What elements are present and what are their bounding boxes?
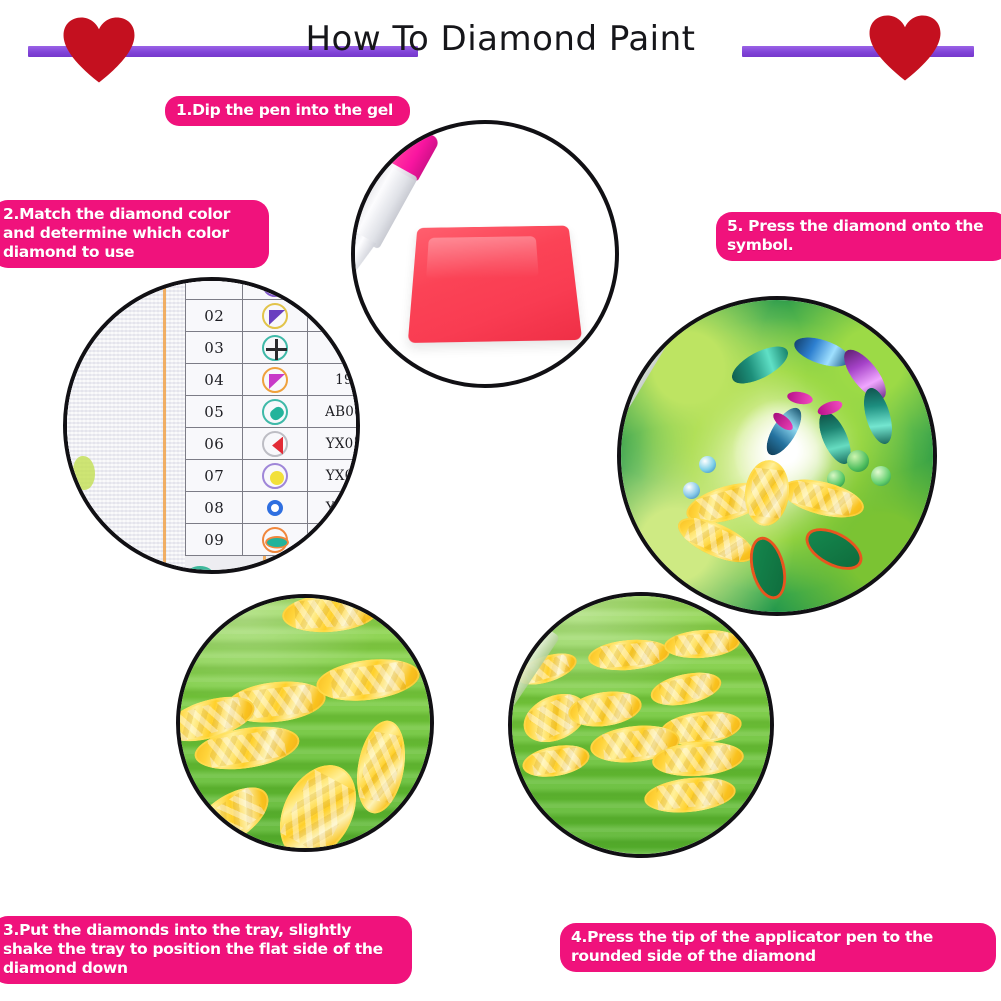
pen-dipping-into-pink-gel-pad bbox=[355, 124, 615, 384]
step-2-photo: 0280209303 1110419505AB00406YX05807YX083… bbox=[63, 277, 360, 574]
table-row: 03 111 bbox=[186, 332, 361, 364]
step-1-label: 1.Dip the pen into the gel bbox=[165, 96, 410, 126]
step-1-photo bbox=[351, 120, 619, 388]
canvas-paint-blob bbox=[187, 566, 213, 574]
chart-code: YX058 bbox=[307, 428, 360, 460]
gem-round bbox=[871, 466, 891, 486]
chart-code: 111 bbox=[307, 332, 360, 364]
chart-number: 07 bbox=[186, 460, 243, 492]
chart-code: YX125 bbox=[307, 524, 360, 556]
pink-gel-pad bbox=[408, 226, 582, 343]
blue-dots-icon bbox=[262, 277, 288, 297]
canvas-paint-blob bbox=[73, 456, 95, 490]
step-3-photo bbox=[176, 594, 434, 852]
page-title: How To Diamond Paint bbox=[0, 19, 1001, 59]
yellow-dot-icon bbox=[262, 463, 288, 489]
step-5-photo bbox=[617, 296, 937, 616]
chart-number: 09 bbox=[186, 524, 243, 556]
chart-number: 02 bbox=[186, 300, 243, 332]
table-row: 028 bbox=[186, 277, 361, 300]
gem-round bbox=[699, 456, 716, 473]
teal-leaf-icon bbox=[262, 527, 288, 553]
chart-symbol bbox=[243, 300, 307, 332]
chart-number: 06 bbox=[186, 428, 243, 460]
gem-round bbox=[683, 482, 700, 499]
chart-number bbox=[186, 277, 243, 300]
canvas-paint-blob bbox=[85, 521, 105, 539]
teal-plus-icon bbox=[262, 335, 288, 361]
chart-code: 028 bbox=[307, 277, 360, 300]
chart-number: 08 bbox=[186, 492, 243, 524]
chart-symbol bbox=[243, 364, 307, 396]
gem-round bbox=[847, 450, 869, 472]
teal-bar-icon bbox=[262, 399, 288, 425]
blue-ring-icon bbox=[262, 495, 288, 521]
chart-symbol bbox=[243, 332, 307, 364]
table-row: 06YX058 bbox=[186, 428, 361, 460]
header: How To Diamond Paint bbox=[0, 0, 1001, 90]
infographic-stage: How To Diamond Paint 1.Dip the pen into … bbox=[0, 0, 1001, 1001]
chart-code: YX106 bbox=[307, 492, 360, 524]
chart-code: 093 bbox=[307, 300, 360, 332]
chart-margin-line bbox=[163, 281, 166, 570]
pen-tip-pressing-yellow-diamond bbox=[512, 596, 770, 854]
step-4-photo bbox=[508, 592, 774, 858]
diamond-painting-color-chart-sheet: 0280209303 1110419505AB00406YX05807YX083… bbox=[67, 281, 356, 570]
purple-triangle-icon bbox=[262, 303, 288, 329]
chart-code: AB004 bbox=[307, 396, 360, 428]
table-row: 09YX125 bbox=[186, 524, 361, 556]
chart-code: YX083 bbox=[307, 460, 360, 492]
step-5-label: 5. Press the diamond onto the symbol. bbox=[716, 212, 1001, 261]
chart-symbol bbox=[243, 428, 307, 460]
chart-code: 195 bbox=[307, 364, 360, 396]
chart-number: 03 bbox=[186, 332, 243, 364]
step-2-label: 2.Match the diamond color and determine … bbox=[0, 200, 269, 268]
table-row: 05AB004 bbox=[186, 396, 361, 428]
table-row: 02093 bbox=[186, 300, 361, 332]
chart-symbol bbox=[243, 460, 307, 492]
pen-placing-diamond-on-mandala-canvas bbox=[621, 300, 933, 612]
color-chart-table: 0280209303 1110419505AB00406YX05807YX083… bbox=[185, 277, 360, 556]
chart-symbol bbox=[243, 492, 307, 524]
chart-number: 04 bbox=[186, 364, 243, 396]
magenta-triangle-icon bbox=[262, 367, 288, 393]
table-row: 08YX106 bbox=[186, 492, 361, 524]
table-row: 04195 bbox=[186, 364, 361, 396]
chart-symbol bbox=[243, 524, 307, 556]
chart-number: 05 bbox=[186, 396, 243, 428]
yellow-diamonds-in-green-tray bbox=[180, 598, 430, 848]
table-row: 07YX083 bbox=[186, 460, 361, 492]
step-3-label: 3.Put the diamonds into the tray, slight… bbox=[0, 916, 412, 984]
chart-symbol bbox=[243, 396, 307, 428]
chart-symbol bbox=[243, 277, 307, 300]
red-chevron-icon bbox=[262, 431, 288, 457]
step-4-label: 4.Press the tip of the applicator pen to… bbox=[560, 923, 996, 972]
